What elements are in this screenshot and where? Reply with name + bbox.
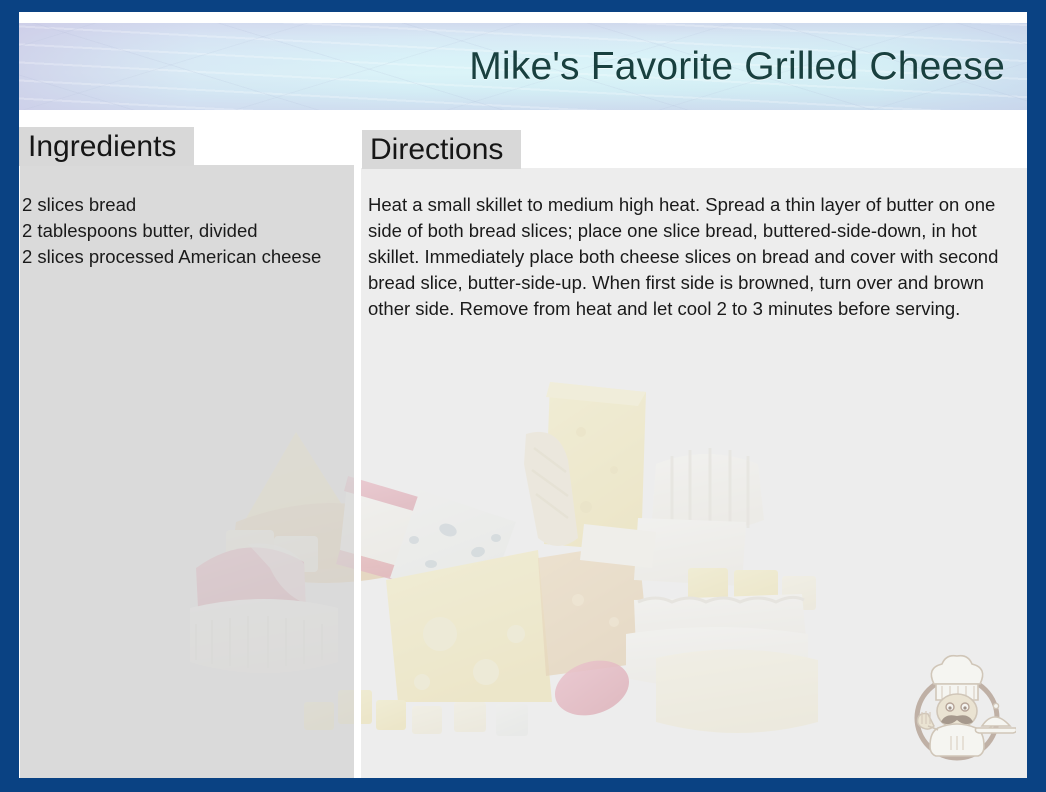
frame-bottom-border (0, 778, 1046, 792)
directions-heading-label: Directions (370, 135, 503, 165)
directions-text: Heat a small skillet to medium high heat… (368, 192, 1020, 322)
frame-left-border (0, 0, 19, 792)
column-divider (354, 165, 361, 778)
ingredients-heading-label: Ingredients (28, 132, 176, 162)
ingredients-heading-tab: Ingredients (18, 127, 194, 166)
recipe-slide: Mike's Favorite Grilled Cheese Ingredien… (0, 0, 1046, 792)
directions-heading-tab: Directions (362, 130, 521, 169)
list-item: 2 slices processed American cheese (22, 244, 342, 270)
frame-top-border (0, 0, 1046, 12)
page-title: Mike's Favorite Grilled Cheese (469, 45, 1005, 89)
frame-right-border (1027, 0, 1046, 792)
list-item: 2 slices bread (22, 192, 342, 218)
list-item: 2 tablespoons butter, divided (22, 218, 342, 244)
title-banner: Mike's Favorite Grilled Cheese (19, 23, 1027, 110)
ingredients-list: 2 slices bread 2 tablespoons butter, div… (22, 192, 342, 270)
